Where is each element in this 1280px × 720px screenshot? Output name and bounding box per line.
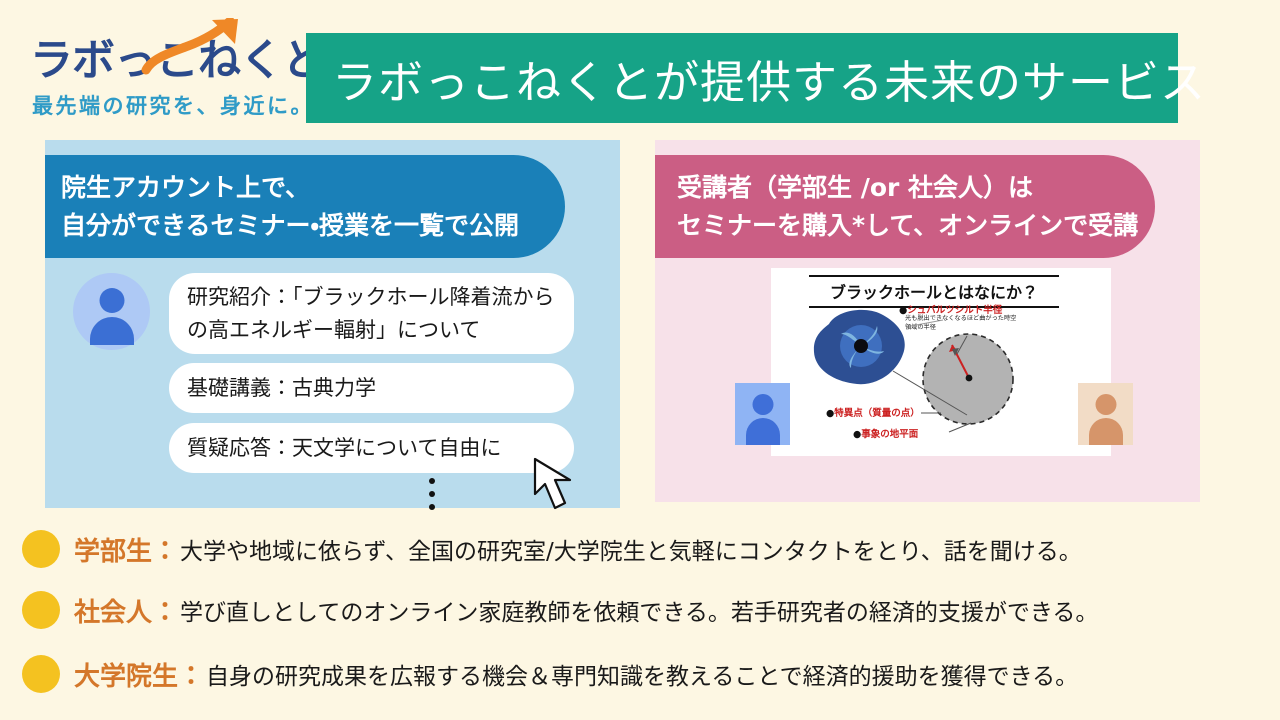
brand-logo: ラボっこねくと 最先端の研究を、身近に。: [18, 24, 308, 124]
student-avatar-icon: [735, 383, 790, 445]
benefit-row: 社会人： 学び直しとしてのオンライン家庭教師を依頼できる。若手研究者の経済的支援…: [22, 586, 1098, 634]
learner-header-line-1: 受講者（学部生 /or 社会人）は: [677, 169, 1155, 207]
benefit-row: 大学院生： 自身の研究成果を広報する機会＆専門知識を教えることで経済的援助を獲得…: [22, 650, 1078, 698]
logo-wordmark-group: ラボっこねくと: [18, 24, 308, 86]
logo-tagline: 最先端の研究を、身近に。: [32, 90, 314, 120]
avatar-head: [99, 288, 124, 313]
benefit-label: 学部生：: [74, 531, 178, 568]
benefit-label: 大学院生：: [74, 656, 204, 693]
slide-title-banner: ラボっこねくとが提供する未来のサービス: [306, 33, 1178, 123]
ellipsis-dot: [429, 504, 435, 510]
grad-student-header-line-1: 院生アカウント上で、: [61, 169, 565, 207]
ellipsis-dot: [429, 478, 435, 484]
benefit-label: 社会人：: [74, 592, 178, 629]
worker-avatar-icon: [1078, 383, 1133, 445]
vertical-ellipsis-icon: [429, 478, 435, 510]
avatar-body: [1089, 418, 1123, 445]
grad-student-header-line-2: 自分ができるセミナー・授業を一覧で公開: [61, 207, 565, 245]
bullet-dot-icon: [22, 591, 60, 629]
avatar-body: [746, 418, 780, 445]
blackhole-lecture-slide-preview: ブラックホールとはなにか？ ●シュバルツシルト半径 光も脱出できなくなるほど曲が…: [771, 268, 1111, 456]
slide-title: ラボっこねくとが提供する未来のサービス: [306, 46, 1206, 111]
person-avatar-icon: [73, 273, 150, 350]
course-item-line: 基礎講義：古典力学: [187, 372, 556, 405]
ellipsis-dot: [429, 491, 435, 497]
course-list-item[interactable]: 基礎講義：古典力学: [169, 363, 574, 413]
bullet-dot-icon: [22, 655, 60, 693]
benefit-row: 学部生： 大学や地域に依らず、全国の研究室/大学院生と気軽にコンタクトをとり、話…: [22, 525, 1082, 573]
avatar-head: [752, 394, 773, 415]
course-item-line: 質疑応答：天文学について自由に: [187, 432, 556, 465]
benefit-description: 自身の研究成果を広報する機会＆専門知識を教えることで経済的援助を獲得できる。: [206, 657, 1078, 691]
learner-header-line-2: セミナーを購入*して、オンラインで受講: [677, 207, 1155, 245]
mouse-pointer-arrow-icon: [532, 456, 576, 512]
learner-panel: 受講者（学部生 /or 社会人）は セミナーを購入*して、オンラインで受講 ブラ…: [655, 140, 1200, 502]
logo-wordmark-text: ラボっこねくと: [30, 26, 324, 88]
grad-student-panel: 院生アカウント上で、 自分ができるセミナー・授業を一覧で公開 研究紹介：「ブラッ…: [45, 140, 620, 508]
slide-canvas: ラボっこねくと 最先端の研究を、身近に。 ラボっこねくとが提供する未来のサービス…: [0, 0, 1280, 720]
bullet-dot-icon: [22, 530, 60, 568]
grad-student-panel-header: 院生アカウント上で、 自分ができるセミナー・授業を一覧で公開: [45, 155, 565, 258]
avatar-body: [90, 317, 134, 345]
lecture-slide-leader-lines: [771, 268, 1111, 456]
course-item-line: 研究紹介：「ブラックホール降着流から: [187, 281, 556, 314]
benefit-description: 学び直しとしてのオンライン家庭教師を依頼できる。若手研究者の経済的支援ができる。: [180, 593, 1098, 627]
course-item-line: の高エネルギー輻射」について: [187, 314, 556, 347]
learner-panel-header: 受講者（学部生 /or 社会人）は セミナーを購入*して、オンラインで受講: [655, 155, 1155, 258]
benefit-description: 大学や地域に依らず、全国の研究室/大学院生と気軽にコンタクトをとり、話を聞ける。: [180, 532, 1082, 566]
course-list-item[interactable]: 研究紹介：「ブラックホール降着流から の高エネルギー輻射」について: [169, 273, 574, 354]
course-list-item[interactable]: 質疑応答：天文学について自由に: [169, 423, 574, 473]
avatar-head: [1095, 394, 1116, 415]
